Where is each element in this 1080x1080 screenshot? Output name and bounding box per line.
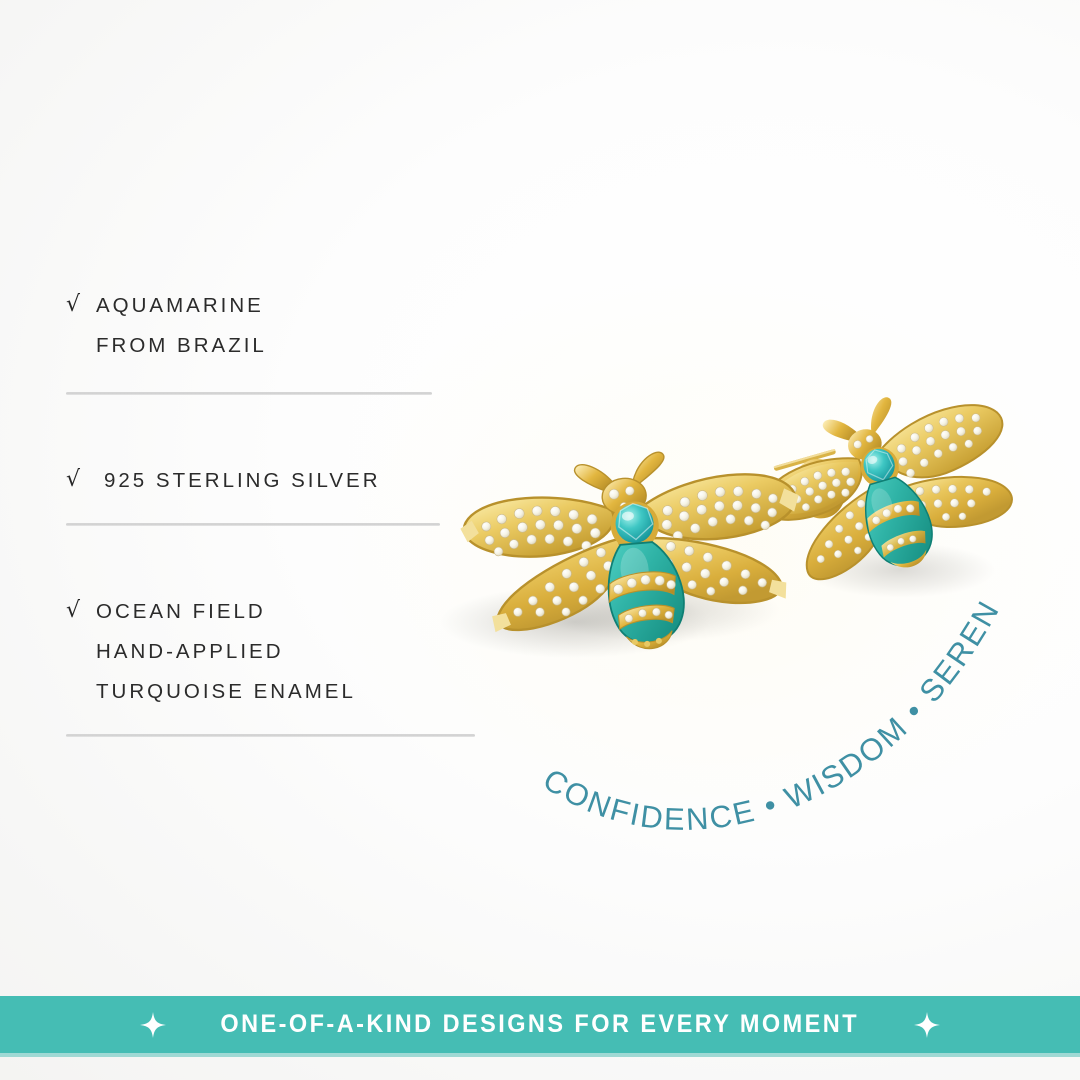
feature-line: OCEAN FIELD [96,592,496,632]
feature-line: AQUAMARINE [96,286,496,326]
feature-line: 925 STERLING SILVER [96,461,496,501]
feature-line: TURQUOISE ENAMEL [96,672,496,712]
feature-divider [66,734,475,737]
feature-list: √ AQUAMARINE FROM BRAZIL √ 925 STERLING … [66,286,496,737]
feature-line: FROM BRAZIL [96,326,496,366]
wing-upper-right-left-earring [642,469,802,545]
promo-banner-text: ONE-OF-A-KIND DESIGNS FOR EVERY MOMENT [221,1010,860,1039]
promo-banner-edge [0,1053,1080,1057]
promo-banner: ONE-OF-A-KIND DESIGNS FOR EVERY MOMENT [0,996,1080,1053]
feature-item-aquamarine: √ AQUAMARINE FROM BRAZIL [66,286,496,366]
checkmark-icon: √ [66,460,96,500]
sparkle-icon [914,1012,940,1038]
checkmark-icon: √ [66,285,96,325]
sparkle-icon [140,1012,166,1038]
checkmark-icon: √ [66,591,96,631]
product-marketing-image: √ AQUAMARINE FROM BRAZIL √ 925 STERLING … [0,0,1080,1080]
feature-line: HAND-APPLIED [96,632,496,672]
feature-item-sterling-silver: √ 925 STERLING SILVER [66,461,496,501]
feature-item-turquoise-enamel: √ OCEAN FIELD HAND-APPLIED TURQUOISE ENA… [66,592,496,712]
